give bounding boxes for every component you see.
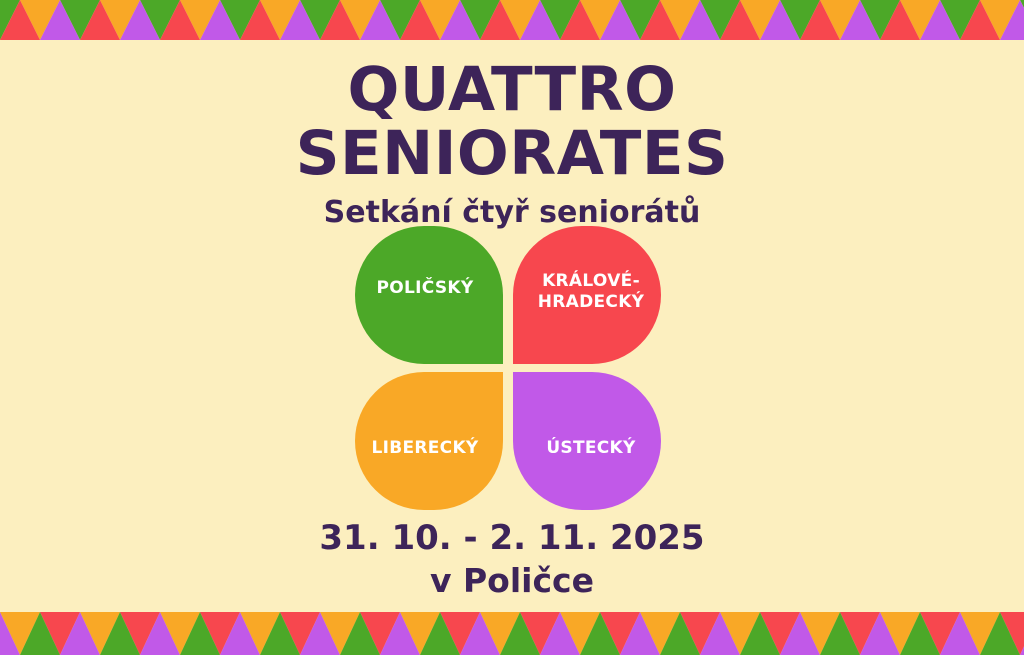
triangle-pattern-top — [0, 0, 1024, 40]
petal-label-ustecky: ÚSTECKÝ — [540, 438, 641, 459]
triangle-pattern-bottom — [0, 612, 1024, 655]
petal-liberecky: LIBERECKÝ — [355, 372, 503, 510]
top-triangle-border — [0, 0, 1024, 40]
bottom-triangle-border — [0, 612, 1024, 655]
page-subtitle: Setkání čtyř seniorátů — [0, 186, 1024, 230]
title-block: QUATTRO SENIORATES Setkání čtyř seniorát… — [0, 40, 1024, 230]
petal-ustecky: ÚSTECKÝ — [513, 372, 661, 510]
event-date: 31. 10. - 2. 11. 2025 — [0, 518, 1024, 558]
petal-policsky: POLIČSKÝ — [355, 226, 503, 364]
petal-label-kralovehradecky: KRÁLOVÉ- HRADECKÝ — [532, 271, 651, 313]
petal-label-line-1: KRÁLOVÉ- — [542, 271, 640, 291]
petal-label-policsky: POLIČSKÝ — [371, 278, 480, 299]
footer-block: 31. 10. - 2. 11. 2025 v Poličce — [0, 518, 1024, 600]
event-place: v Poličce — [0, 558, 1024, 600]
poster-canvas: QUATTRO SENIORATES Setkání čtyř seniorát… — [0, 0, 1024, 655]
page-title-line-2: SENIORATES — [0, 122, 1024, 186]
four-petal-clover-logo: POLIČSKÝ KRÁLOVÉ- HRADECKÝ LIBERECKÝ ÚST… — [355, 226, 661, 510]
petal-label-line-2: HRADECKÝ — [538, 292, 645, 312]
petal-kralovehradecky: KRÁLOVÉ- HRADECKÝ — [513, 226, 661, 364]
petal-label-liberecky: LIBERECKÝ — [365, 438, 484, 459]
page-title-line-1: QUATTRO — [0, 40, 1024, 122]
